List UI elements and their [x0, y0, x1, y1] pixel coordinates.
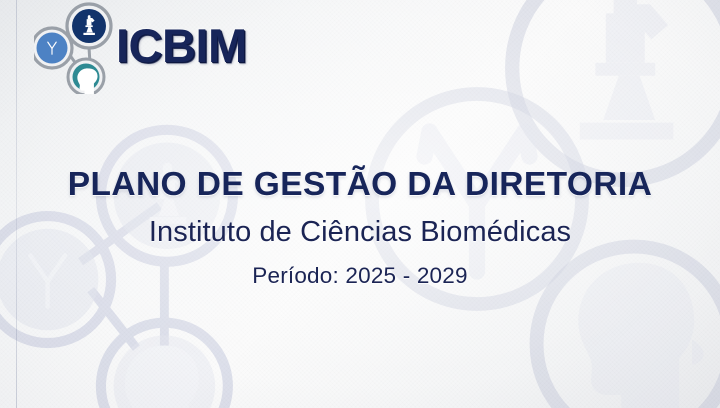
icbim-logo-mark [34, 2, 120, 94]
page-title: PLANO DE GESTÃO DA DIRETORIA [0, 168, 720, 203]
head-profile-node [68, 59, 104, 94]
page-subtitle: Instituto de Ciências Biomédicas [0, 217, 720, 249]
title-slide: ICBIM PLANO DE GESTÃO DA DIRETORIA Insti… [0, 0, 720, 408]
title-block: PLANO DE GESTÃO DA DIRETORIA Instituto d… [0, 168, 720, 288]
microscope-node [67, 4, 111, 48]
antibody-node [34, 28, 72, 68]
icbim-logo[interactable]: ICBIM [34, 2, 284, 94]
icbim-wordmark: ICBIM [116, 22, 247, 69]
period-label: Período: 2025 - 2029 [0, 264, 720, 289]
